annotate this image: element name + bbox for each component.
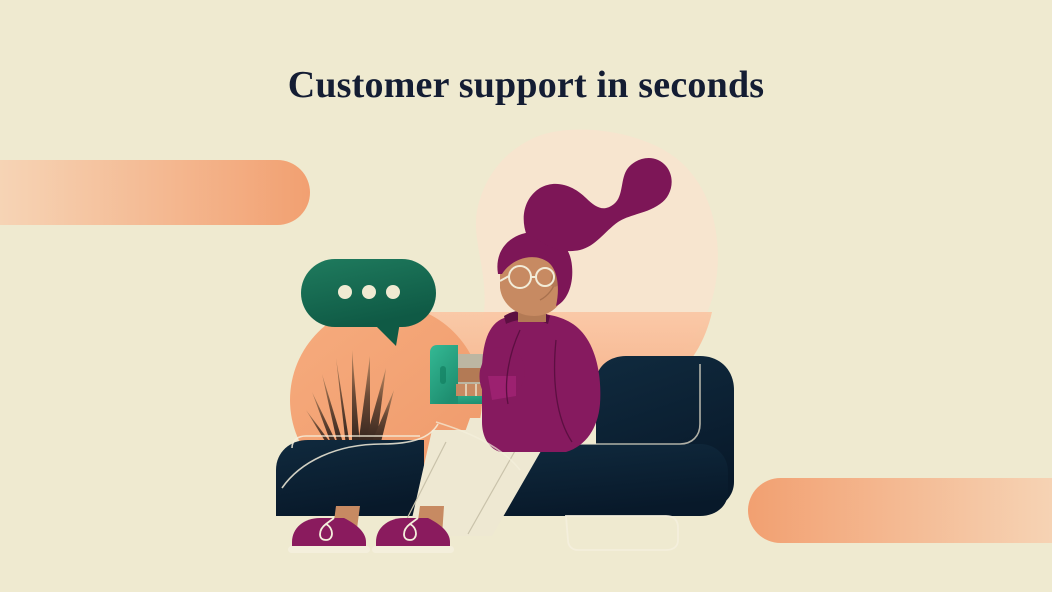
page-root: Customer support in seconds [0, 0, 1052, 592]
page-title: Customer support in seconds [0, 63, 1052, 109]
laptop-hinge-detail [440, 366, 446, 384]
chat-bubble-dot [362, 285, 376, 299]
sofa-left-arm [276, 440, 424, 516]
sweater-cuff [488, 376, 516, 400]
chat-bubble-dot [338, 285, 352, 299]
chat-bubble-dot [386, 285, 400, 299]
bottom-right-gradient-pill [748, 478, 1052, 543]
top-left-gradient-pill [0, 160, 310, 225]
